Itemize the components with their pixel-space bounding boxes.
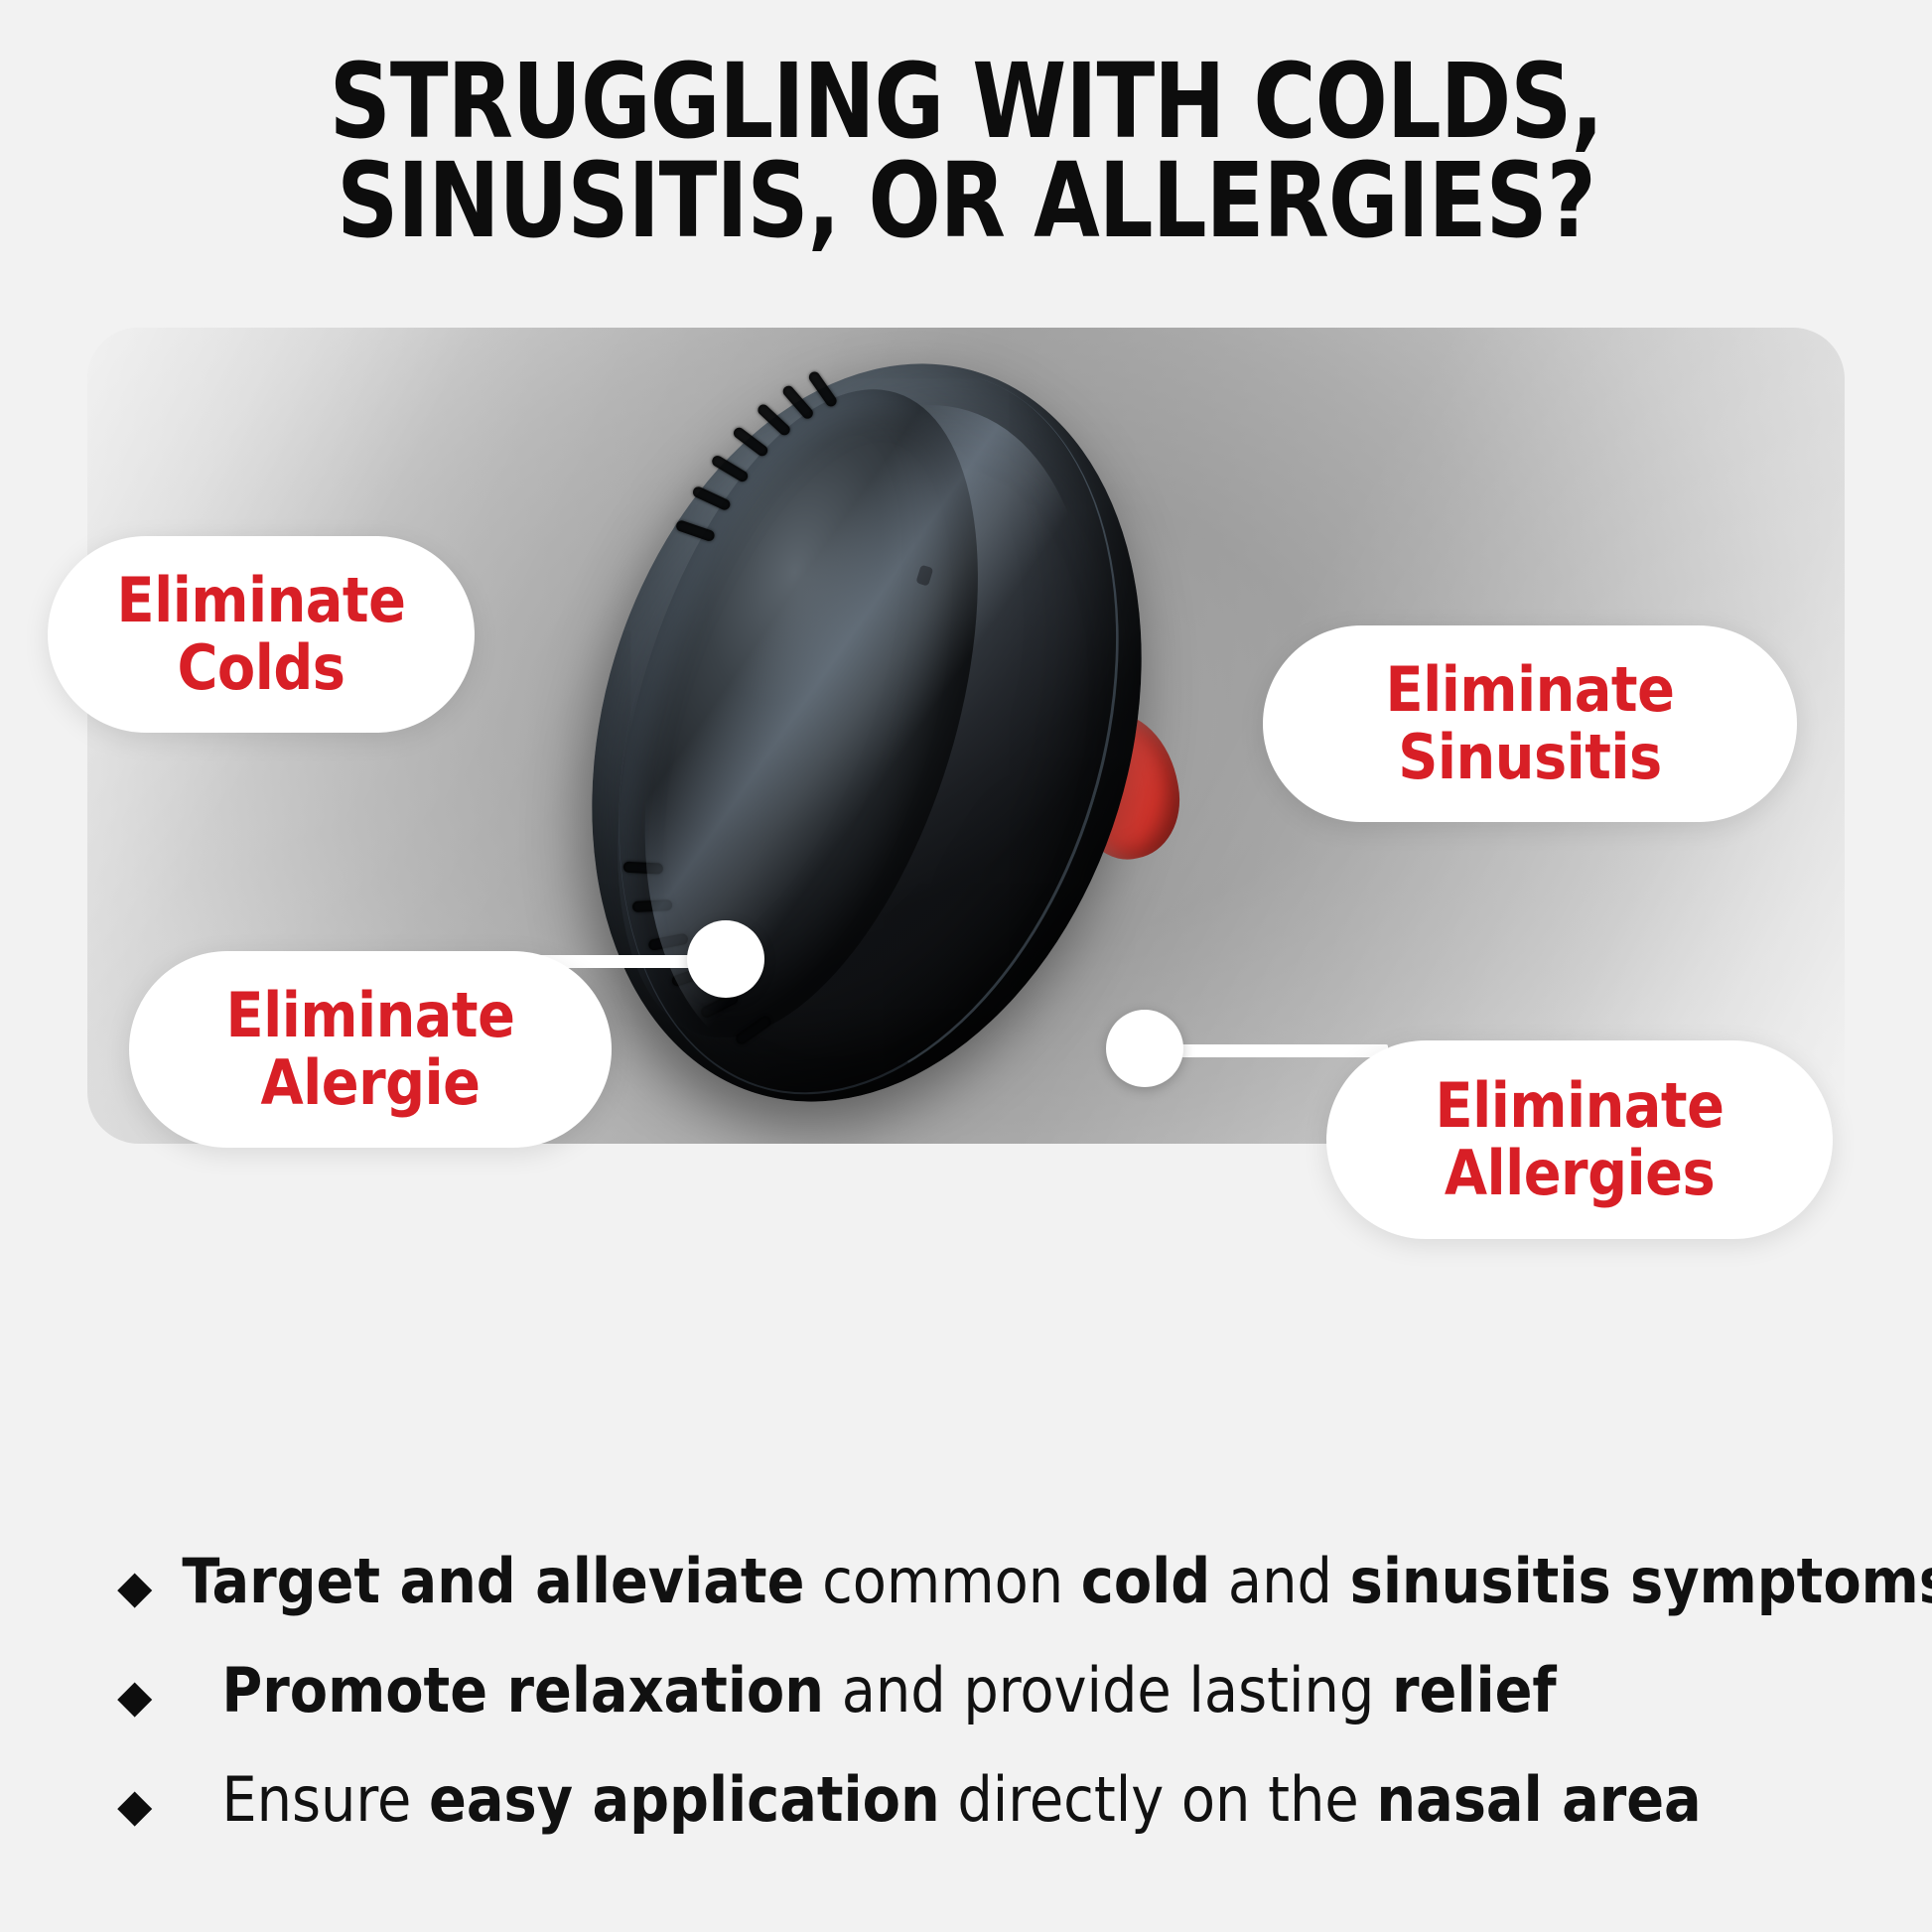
callout-alergie-line-1: Eliminate xyxy=(226,982,515,1049)
page-title: STRUGGLING WITH COLDS, SINUSITIS, OR ALL… xyxy=(0,52,1932,250)
callout-alergie-line-2: Alergie xyxy=(260,1049,480,1117)
title-line-2: SINUSITIS, OR ALLERGIES? xyxy=(77,151,1855,250)
callout-pill-allergies[interactable]: Eliminate Allergies xyxy=(1326,1040,1833,1239)
benefit-text-2: Promote relaxation and provide lasting r… xyxy=(221,1658,1556,1724)
diamond-bullet-icon: ◆ xyxy=(117,1673,152,1719)
callout-sinusitis-line-1: Eliminate xyxy=(1386,656,1675,724)
callout-pill-sinusitis[interactable]: Eliminate Sinusitis xyxy=(1263,625,1797,822)
callout-pill-colds[interactable]: Eliminate Colds xyxy=(48,536,475,733)
benefits-list: ◆ Target and alleviate common cold and s… xyxy=(0,1549,1932,1876)
diamond-bullet-icon: ◆ xyxy=(117,1564,152,1609)
callout-colds-line-1: Eliminate xyxy=(117,567,406,634)
benefit-2-bold-2: relief xyxy=(1392,1654,1557,1726)
benefit-3-bold-3: nasal area xyxy=(1376,1763,1701,1836)
connector-dot-colds xyxy=(687,920,764,998)
benefit-1-bold-1: Target and alleviate xyxy=(182,1545,804,1617)
callout-allergies-line-2: Allergies xyxy=(1445,1140,1715,1207)
benefit-item: ◆ Target and alleviate common cold and s… xyxy=(0,1549,1932,1614)
benefit-item: ◆ Ensure easy application directly on th… xyxy=(0,1767,1932,1833)
callout-pill-alergie[interactable]: Eliminate Alergie xyxy=(129,951,612,1148)
callout-sinusitis-line-2: Sinusitis xyxy=(1398,724,1662,791)
nasal-therapy-device-image xyxy=(484,338,1299,1132)
benefit-3-reg-2: directly on the xyxy=(940,1763,1377,1836)
benefit-item: ◆ Promote relaxation and provide lasting… xyxy=(0,1658,1932,1724)
benefit-2-bold-1: Promote relaxation xyxy=(221,1654,824,1726)
benefit-2-reg-1: and provide lasting xyxy=(824,1654,1392,1726)
callout-allergies-line-1: Eliminate xyxy=(1436,1072,1725,1140)
benefit-1-reg-2: and xyxy=(1210,1545,1349,1617)
benefit-1-bold-2: cold xyxy=(1081,1545,1210,1617)
benefit-3-bold-2: easy application xyxy=(429,1763,940,1836)
benefit-text-3: Ensure easy application directly on the … xyxy=(221,1767,1701,1833)
infographic-page: STRUGGLING WITH COLDS, SINUSITIS, OR ALL… xyxy=(0,0,1932,1932)
benefit-1-reg-1: common xyxy=(804,1545,1080,1617)
benefit-text-1: Target and alleviate common cold and sin… xyxy=(182,1549,1932,1614)
callout-colds-line-2: Colds xyxy=(178,634,345,702)
benefit-1-bold-3: sinusitis symptoms xyxy=(1350,1545,1932,1617)
diamond-bullet-icon: ◆ xyxy=(117,1782,152,1828)
benefit-3-reg-1: Ensure xyxy=(221,1763,429,1836)
title-line-1: STRUGGLING WITH COLDS, xyxy=(77,52,1855,151)
connector-dot-sinusitis xyxy=(1106,1010,1183,1087)
device-face xyxy=(549,346,1047,1080)
